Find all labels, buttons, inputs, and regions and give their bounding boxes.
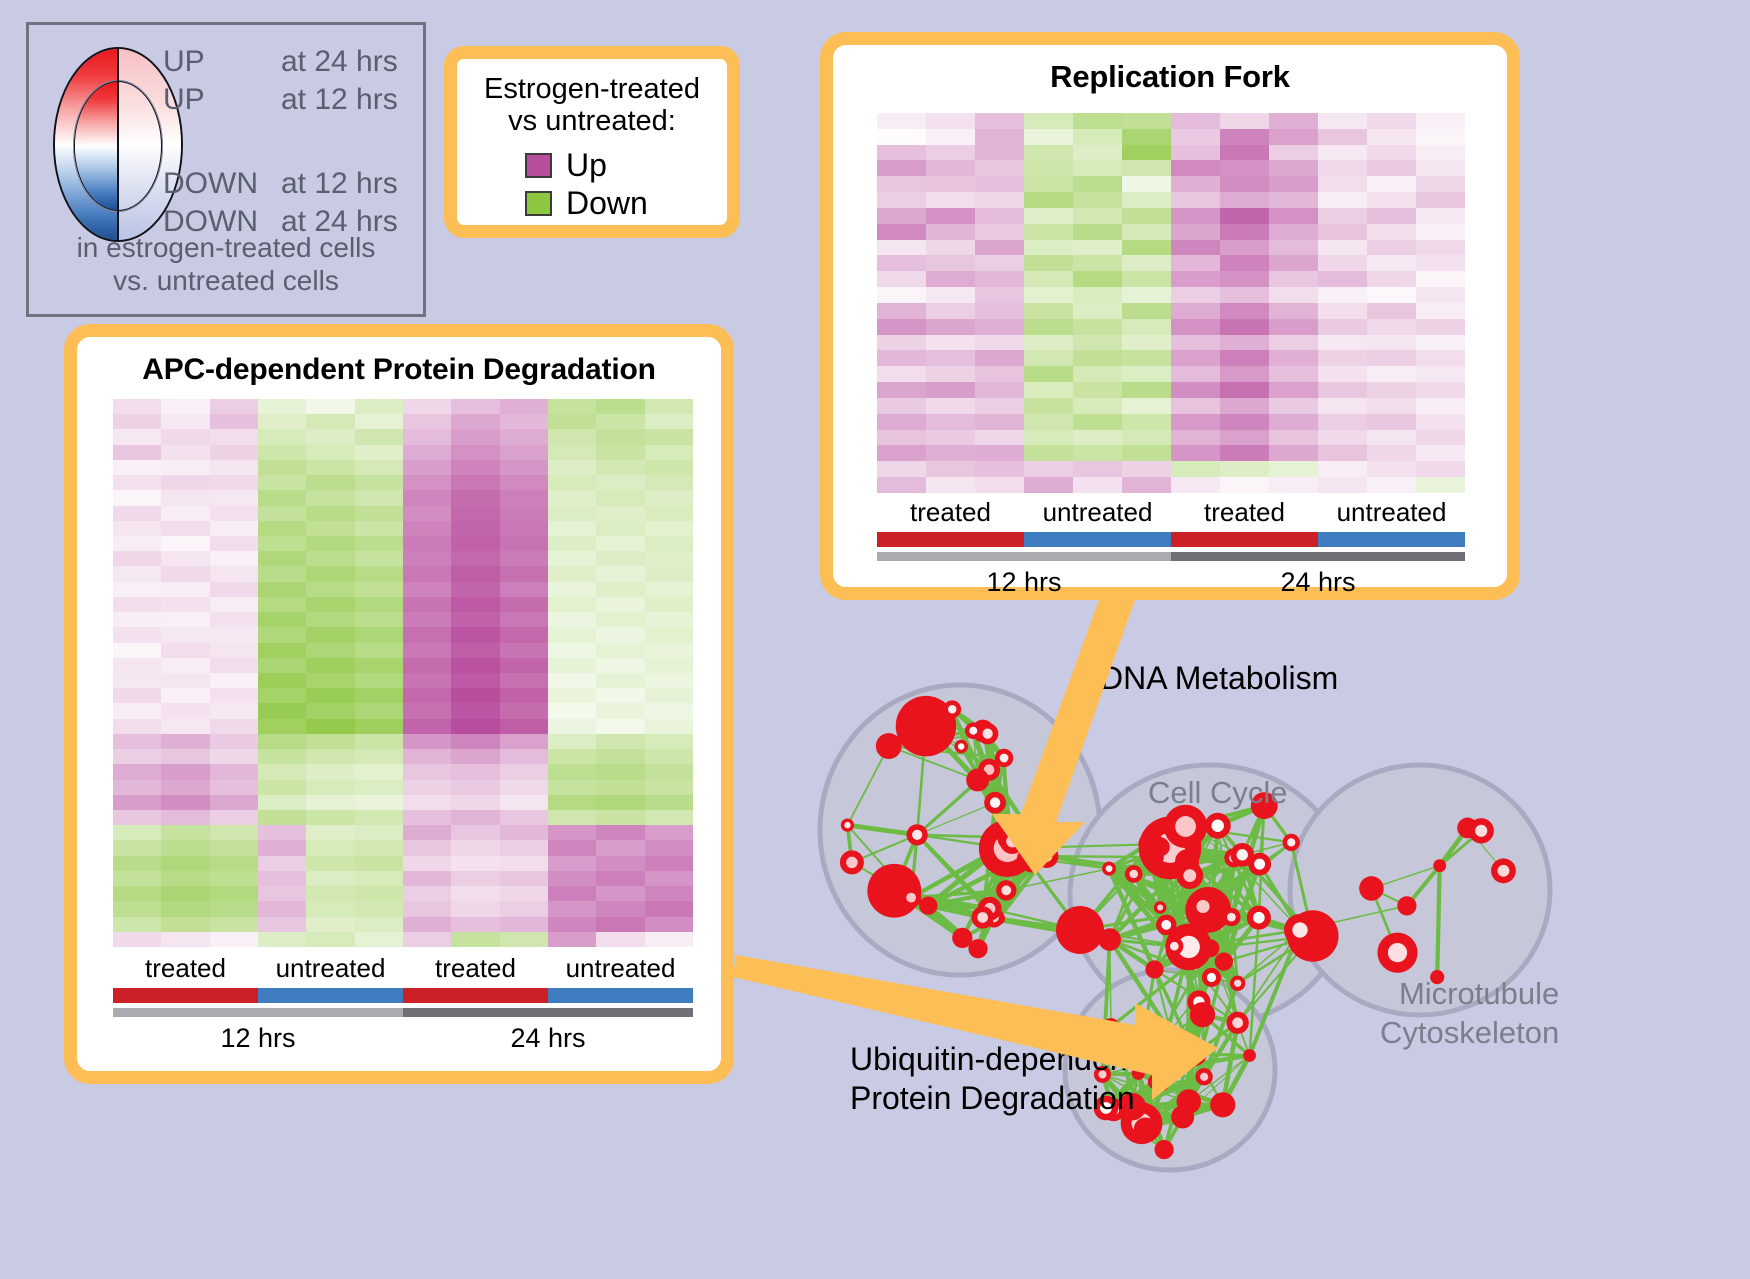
heatmap-cell (926, 398, 975, 414)
heatmap-cell (1122, 477, 1171, 493)
heatmap-cell (258, 399, 306, 414)
heatmap-cell (1318, 382, 1367, 398)
node-inner-fill (1183, 869, 1196, 882)
heatmap-cell (1318, 192, 1367, 208)
heatmap-cell (645, 795, 693, 810)
heatmap-cell (1220, 192, 1269, 208)
heatmap-cell (548, 658, 596, 673)
legend-direction-2: DOWN (163, 169, 281, 199)
heatmap-cell (161, 551, 209, 566)
group-label-0: treated (877, 497, 1024, 528)
heatmap-cell (645, 612, 693, 627)
heatmap-cell (210, 490, 258, 505)
node-inner-fill (1237, 849, 1248, 860)
node-outer-ring (1243, 1049, 1256, 1062)
heatmap-cell (451, 749, 499, 764)
heatmap-cell (1269, 319, 1318, 335)
heatmap-cell (1122, 461, 1171, 477)
network-label-ubiquitin-degradation: Ubiquitin-dependent Protein Degradation (850, 1040, 1136, 1118)
network-node[interactable] (1283, 834, 1300, 851)
heatmap-cell (926, 477, 975, 493)
heatmap-cell (451, 399, 499, 414)
network-node[interactable] (1102, 862, 1116, 876)
heatmap-cell (1367, 350, 1416, 366)
heatmap-cell (500, 551, 548, 566)
heatmap-cell (548, 521, 596, 536)
heatmap-cell (645, 764, 693, 779)
heatmap-cell (161, 643, 209, 658)
heatmap-cell (500, 673, 548, 688)
heatmap-cell (500, 658, 548, 673)
heatmap-cell (113, 551, 161, 566)
network-node[interactable] (1210, 1092, 1235, 1117)
network-node[interactable] (1491, 858, 1516, 883)
heatmap-cell (1220, 208, 1269, 224)
heatmap-cell (113, 506, 161, 521)
replication-fork-axis: treated untreated treated untreated 12 h… (877, 497, 1465, 598)
heatmap-cell (877, 192, 926, 208)
heatmap-cell (1367, 208, 1416, 224)
network-node[interactable] (1000, 829, 1025, 854)
heatmap-cell (500, 597, 548, 612)
heatmap-cell (355, 703, 403, 718)
network-node[interactable] (965, 722, 982, 739)
heatmap-cell (451, 414, 499, 429)
heatmap-cell (306, 521, 354, 536)
heatmap-cell (451, 856, 499, 871)
heatmap-cell (645, 932, 693, 947)
network-node[interactable] (984, 792, 1006, 814)
heatmap-cell (1171, 414, 1220, 430)
network-node[interactable] (1145, 960, 1163, 978)
heatmap-cell (926, 445, 975, 461)
heatmap-cell (1171, 398, 1220, 414)
heatmap-cell (1269, 240, 1318, 256)
heatmap-cell (161, 810, 209, 825)
heatmap-cell (1367, 335, 1416, 351)
heatmap-cell (1171, 271, 1220, 287)
heatmap-cell (1073, 477, 1122, 493)
heatmap-cell (113, 658, 161, 673)
heatmap-cell (1122, 319, 1171, 335)
heatmap-cell (1171, 240, 1220, 256)
heatmap-cell (451, 536, 499, 551)
heatmap-cell (113, 840, 161, 855)
updown-title-line-1: Estrogen-treated (457, 73, 727, 105)
heatmap-cell (877, 176, 926, 192)
network-node[interactable] (966, 769, 989, 792)
heatmap-cell (596, 445, 644, 460)
network-node[interactable] (1156, 915, 1177, 936)
network-node[interactable] (1226, 1012, 1248, 1034)
heatmap-cell (500, 612, 548, 627)
heatmap-cell (548, 673, 596, 688)
heatmap-cell (451, 795, 499, 810)
heatmap-cell (113, 810, 161, 825)
legend-time-1: at 12 hrs (281, 85, 398, 115)
network-node[interactable] (1182, 1041, 1207, 1066)
heatmap-cell (451, 810, 499, 825)
heatmap-cell (403, 840, 451, 855)
heatmap-cell (1024, 350, 1073, 366)
node-inner-fill (1388, 943, 1407, 962)
time-bar-12hrs (113, 1008, 403, 1017)
heatmap-cell (403, 932, 451, 947)
heatmap-cell (1367, 287, 1416, 303)
network-node[interactable] (971, 906, 993, 928)
heatmap-cell (548, 871, 596, 886)
network-node[interactable] (968, 939, 987, 958)
network-node[interactable] (995, 749, 1013, 767)
heatmap-cell (210, 445, 258, 460)
heatmap-cell (451, 886, 499, 901)
heatmap-cell (548, 506, 596, 521)
heatmap-cell (926, 350, 975, 366)
network-node[interactable] (1468, 818, 1493, 843)
heatmap-cell (975, 319, 1024, 335)
heatmap-cell (1171, 176, 1220, 192)
heatmap-cell (306, 703, 354, 718)
heatmap-cell (113, 886, 161, 901)
network-node[interactable] (1284, 914, 1316, 946)
heatmap-cell (1318, 271, 1367, 287)
heatmap-cell (306, 795, 354, 810)
heatmap-cell (1416, 287, 1465, 303)
heatmap-cell (877, 430, 926, 446)
node-inner-fill (958, 743, 965, 750)
group-label-1: untreated (1024, 497, 1171, 528)
heatmap-cell (1171, 461, 1220, 477)
heatmap-cell (258, 795, 306, 810)
network-node[interactable] (1222, 908, 1240, 926)
heatmap-cell (210, 734, 258, 749)
time-labels: 12 hrs 24 hrs (113, 1023, 693, 1054)
network-node[interactable] (1164, 805, 1207, 848)
heatmap-cell (451, 917, 499, 932)
heatmap-cell (258, 551, 306, 566)
heatmap-cell (1024, 176, 1073, 192)
up-label: Up (566, 147, 607, 184)
heatmap-cell (596, 582, 644, 597)
heatmap-cell (1171, 335, 1220, 351)
heatmap-cell (1318, 145, 1367, 161)
heatmap-cell (645, 719, 693, 734)
heatmap-cell (403, 825, 451, 840)
heatmap-cell (403, 445, 451, 460)
heatmap-cell (1269, 445, 1318, 461)
heatmap-cell (451, 566, 499, 581)
legend-time-0: at 24 hrs (281, 47, 398, 77)
group-label-0: treated (113, 953, 258, 984)
heatmap-cell (1367, 398, 1416, 414)
heatmap-cell (210, 658, 258, 673)
heatmap-cell (1269, 255, 1318, 271)
heatmap-cell (1318, 477, 1367, 493)
heatmap-cell (258, 810, 306, 825)
heatmap-cell (1024, 240, 1073, 256)
heatmap-cell (161, 460, 209, 475)
heatmap-cell (258, 917, 306, 932)
network-node[interactable] (841, 818, 854, 831)
heatmap-cell (355, 475, 403, 490)
heatmap-cell (1024, 445, 1073, 461)
heatmap-cell (926, 303, 975, 319)
network-node[interactable] (954, 740, 968, 754)
heatmap-cell (113, 703, 161, 718)
heatmap-cell (1073, 287, 1122, 303)
network-node[interactable] (1165, 937, 1183, 955)
heatmap-cell (258, 582, 306, 597)
heatmap-cell (1318, 255, 1367, 271)
heatmap-cell (1073, 350, 1122, 366)
node-outer-ring (876, 733, 902, 759)
heatmap-cell (500, 901, 548, 916)
heatmap-cell (1122, 398, 1171, 414)
microtubule-line-2: Cytoskeleton (1380, 1014, 1559, 1053)
heatmap-cell (306, 627, 354, 642)
network-node[interactable] (1377, 933, 1417, 973)
network-node[interactable] (1397, 896, 1416, 915)
network-node[interactable] (1125, 865, 1143, 883)
heatmap-cell (1416, 414, 1465, 430)
heatmap-cell (1367, 461, 1416, 477)
heatmap-cell (1318, 445, 1367, 461)
network-node[interactable] (1195, 1068, 1212, 1085)
network-node[interactable] (1134, 1117, 1157, 1140)
heatmap-cell (548, 612, 596, 627)
heatmap-cell (645, 688, 693, 703)
heatmap-cell (258, 901, 306, 916)
network-node[interactable] (996, 880, 1016, 900)
heatmap-cell (500, 582, 548, 597)
heatmap-cell (975, 366, 1024, 382)
heatmap-cell (1073, 382, 1122, 398)
heatmap-cell (926, 176, 975, 192)
treatment-bar-1 (258, 988, 403, 1003)
heatmap-cell (926, 461, 975, 477)
heatmap-cell (500, 399, 548, 414)
heatmap-cell (975, 145, 1024, 161)
heatmap-cell (355, 551, 403, 566)
heatmap-cell (548, 429, 596, 444)
treatment-bar-row (113, 988, 693, 1003)
heatmap-cell (210, 506, 258, 521)
heatmap-cell (1318, 287, 1367, 303)
network-node[interactable] (1103, 1018, 1120, 1035)
node-outer-ring (1202, 939, 1220, 957)
heatmap-cell (1220, 176, 1269, 192)
heatmap-cell (306, 597, 354, 612)
heatmap-cell (596, 719, 644, 734)
heatmap-cell (1024, 382, 1073, 398)
heatmap-cell (645, 840, 693, 855)
network-node[interactable] (1035, 844, 1059, 868)
heatmap-cell (210, 688, 258, 703)
heatmap-cell (1122, 224, 1171, 240)
heatmap-cell (403, 399, 451, 414)
network-node[interactable] (1176, 862, 1203, 889)
heatmap-cell (258, 688, 306, 703)
network-node[interactable] (1150, 837, 1169, 856)
heatmap-cell (1416, 160, 1465, 176)
heatmap-cell (1220, 113, 1269, 129)
heatmap-cell (161, 795, 209, 810)
node-inner-fill (1041, 850, 1052, 861)
heatmap-cell (1171, 319, 1220, 335)
heatmap-cell (596, 566, 644, 581)
heatmap-cell (645, 749, 693, 764)
heatmap-cell (258, 825, 306, 840)
network-node[interactable] (1205, 813, 1231, 839)
heatmap-cell (306, 840, 354, 855)
heatmap-cell (113, 521, 161, 536)
heatmap-cell (258, 566, 306, 581)
heatmap-cell (258, 445, 306, 460)
heatmap-cell (975, 303, 1024, 319)
network-node[interactable] (1215, 952, 1233, 970)
network-node[interactable] (1202, 939, 1220, 957)
heatmap-cell (548, 764, 596, 779)
node-inner-fill (1207, 973, 1216, 982)
heatmap-cell (975, 335, 1024, 351)
heatmap-cell (1171, 287, 1220, 303)
heatmap-cell (210, 597, 258, 612)
heatmap-cell (877, 477, 926, 493)
network-node[interactable] (1359, 876, 1384, 901)
heatmap-cell (596, 703, 644, 718)
heatmap-cell (161, 536, 209, 551)
node-outer-ring (1210, 1092, 1235, 1117)
heatmap-cell (596, 734, 644, 749)
heatmap-cell (548, 780, 596, 795)
heatmap-cell (548, 917, 596, 932)
heatmap-cell (548, 627, 596, 642)
heatmap-cell (877, 208, 926, 224)
heatmap-cell (1024, 414, 1073, 430)
network-node[interactable] (1056, 906, 1104, 954)
network-node[interactable] (1189, 893, 1216, 920)
network-node[interactable] (919, 897, 937, 915)
network-node[interactable] (1433, 859, 1446, 872)
treatment-bar-1 (1024, 532, 1171, 547)
network-node[interactable] (1157, 1079, 1169, 1091)
heatmap-cell (548, 566, 596, 581)
node-inner-fill (1475, 825, 1487, 837)
heatmap-cell (355, 597, 403, 612)
network-node[interactable] (907, 824, 928, 845)
heatmap-cell (1220, 129, 1269, 145)
heatmap-cell (1024, 271, 1073, 287)
node-outer-ring (1157, 1079, 1169, 1091)
node-inner-fill (844, 822, 850, 828)
heatmap-cell (1367, 145, 1416, 161)
heatmap-cell (306, 688, 354, 703)
network-node[interactable] (1176, 1089, 1201, 1114)
network-node[interactable] (1247, 906, 1271, 930)
heatmap-cell (210, 825, 258, 840)
heatmap-cell (548, 825, 596, 840)
heatmap-cell (113, 871, 161, 886)
heatmap-cell (645, 658, 693, 673)
heatmap-cell (926, 255, 975, 271)
network-node[interactable] (1154, 901, 1167, 914)
heatmap-cell (926, 129, 975, 145)
heatmap-cell (210, 856, 258, 871)
heatmap-cell (1122, 303, 1171, 319)
heatmap-cell (1367, 113, 1416, 129)
heatmap-cell (258, 749, 306, 764)
node-inner-fill (1196, 900, 1209, 913)
heatmap-cell (258, 673, 306, 688)
heatmap-cell (258, 521, 306, 536)
legend-item-up: Up (525, 147, 727, 185)
heatmap-cell (500, 521, 548, 536)
heatmap-cell (1073, 192, 1122, 208)
network-node[interactable] (1243, 1049, 1256, 1062)
node-inner-fill (1227, 913, 1236, 922)
heatmap-cell (877, 335, 926, 351)
heatmap-cell (258, 780, 306, 795)
network-node[interactable] (1155, 1140, 1174, 1159)
heatmap-cell (1269, 414, 1318, 430)
heatmap-cell (1318, 398, 1367, 414)
heatmap-cell (1073, 160, 1122, 176)
heatmap-cell (596, 627, 644, 642)
network-node[interactable] (1230, 976, 1245, 991)
network-node[interactable] (1230, 843, 1254, 867)
network-node[interactable] (1202, 968, 1221, 987)
heatmap-cell (1416, 255, 1465, 271)
gradient-legend-footer: in estrogen-treated cells vs. untreated … (29, 231, 423, 298)
heatmap-cell (645, 825, 693, 840)
network-node[interactable] (840, 850, 864, 874)
network-node[interactable] (901, 887, 921, 907)
heatmap-cell (403, 521, 451, 536)
heatmap-cell (306, 551, 354, 566)
heatmap-cell (403, 429, 451, 444)
treatment-bar-2 (1171, 532, 1318, 547)
heatmap-cell (1171, 113, 1220, 129)
heatmap-cell (210, 627, 258, 642)
time-bar-24hrs (403, 1008, 693, 1017)
heatmap-cell (258, 536, 306, 551)
heatmap-cell (1073, 319, 1122, 335)
heatmap-cell (975, 192, 1024, 208)
heatmap-cell (1318, 461, 1367, 477)
heatmap-cell (1171, 445, 1220, 461)
heatmap-cell (1416, 382, 1465, 398)
heatmap-cell (1416, 240, 1465, 256)
heatmap-cell (355, 490, 403, 505)
network-label-dna-metabolism: DNA Metabolism (1100, 660, 1338, 697)
node-outer-ring (1150, 837, 1169, 856)
heatmap-cell (1318, 303, 1367, 319)
network-node[interactable] (876, 733, 902, 759)
network-node[interactable] (943, 700, 961, 718)
time-bar-24hrs (1171, 552, 1465, 561)
heatmap-cell (451, 734, 499, 749)
heatmap-cell (113, 643, 161, 658)
heatmap-cell (877, 224, 926, 240)
heatmap-cell (548, 734, 596, 749)
heatmap-cell (403, 901, 451, 916)
network-node[interactable] (1190, 1002, 1215, 1027)
heatmap-cell (355, 871, 403, 886)
heatmap-cell (877, 461, 926, 477)
heatmap-cell (596, 840, 644, 855)
heatmap-cell (1024, 366, 1073, 382)
heatmap-cell (548, 932, 596, 947)
